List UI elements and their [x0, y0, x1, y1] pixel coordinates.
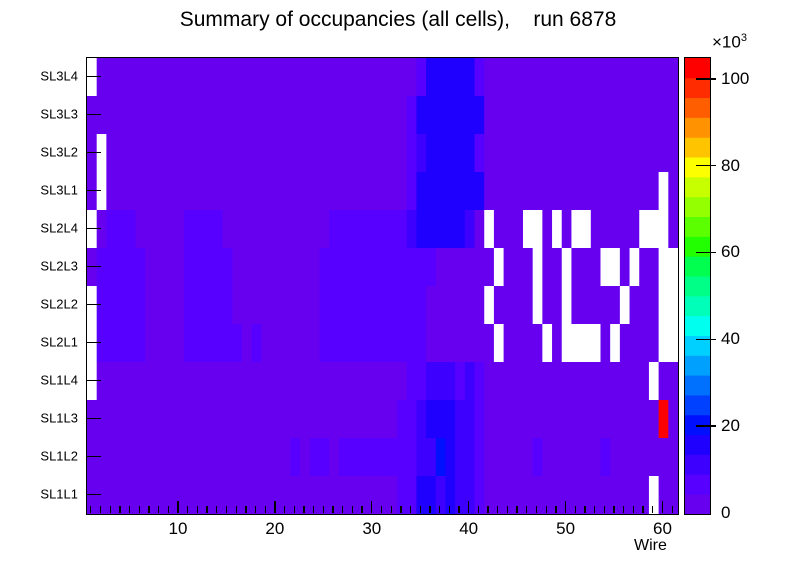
- y-axis-tick-mark: [86, 456, 101, 457]
- color-scale-tick-label: 0: [721, 503, 730, 523]
- y-axis-tick-mark: [86, 494, 101, 495]
- y-axis-tick-mark: [86, 190, 101, 191]
- color-scale-exponent: ×103: [712, 32, 747, 53]
- root-canvas: Summary of occupancies (all cells), run …: [0, 0, 796, 572]
- color-scale-tick-mark: [696, 425, 716, 427]
- color-scale-tick-label: 60: [721, 242, 740, 262]
- color-scale-exponent-power: 3: [741, 32, 747, 44]
- color-scale-tick-mark: [696, 252, 716, 254]
- y-axis-tick-mark: [86, 114, 101, 115]
- color-scale-tick-label: 100: [721, 69, 749, 89]
- y-axis-tick-mark: [86, 228, 101, 229]
- y-axis-tick-mark: [86, 266, 101, 267]
- color-scale-tick-labels: 020406080100: [0, 0, 796, 572]
- color-scale-tick-mark: [696, 339, 716, 341]
- color-scale-tick-mark: [696, 78, 716, 80]
- color-scale-tick-label: 80: [721, 156, 740, 176]
- color-scale-tick-label: 20: [721, 416, 740, 436]
- y-axis-tick-mark: [86, 304, 101, 305]
- color-scale-tick-mark: [696, 165, 716, 167]
- color-scale-tick-label: 40: [721, 329, 740, 349]
- y-axis-tick-mark: [86, 342, 101, 343]
- y-axis-tick-mark: [86, 418, 101, 419]
- y-axis-tick-mark: [86, 76, 101, 77]
- y-axis-tick-mark: [86, 380, 101, 381]
- y-axis-tick-mark: [86, 152, 101, 153]
